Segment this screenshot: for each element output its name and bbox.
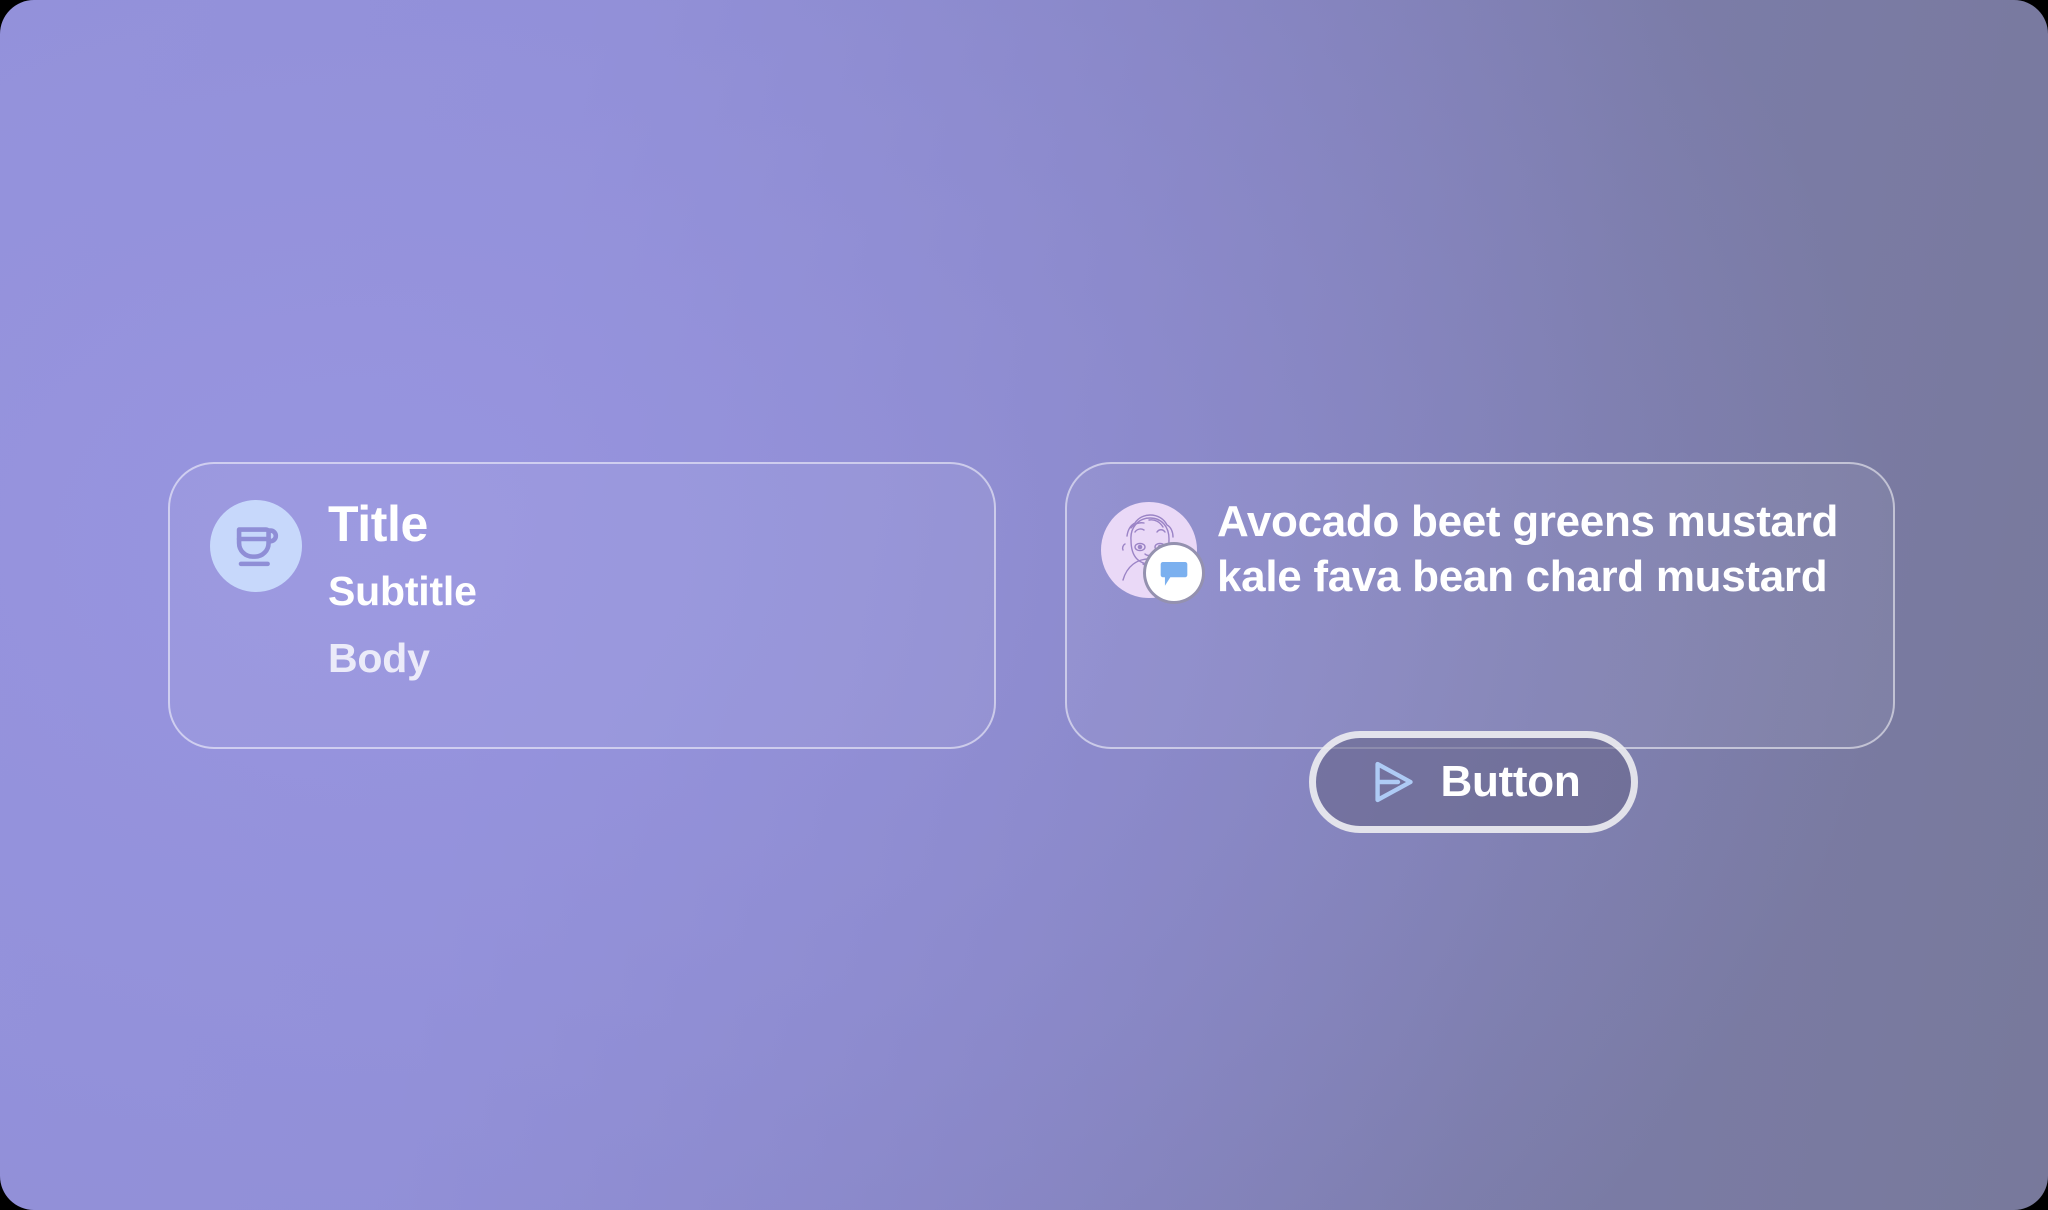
- card-body: Body: [328, 638, 477, 679]
- info-card[interactable]: Title Subtitle Body: [168, 462, 996, 749]
- send-button[interactable]: Button: [1309, 731, 1638, 833]
- avatar: [1101, 502, 1197, 598]
- card-title: Title: [328, 499, 477, 549]
- send-triangle-glyph: [1368, 757, 1418, 807]
- message-card[interactable]: Avocado beet greens mustard kale fava be…: [1065, 462, 1895, 749]
- send-button-label: Button: [1441, 760, 1581, 804]
- canvas-root: Title Subtitle Body: [0, 0, 2048, 1210]
- info-card-text-stack: Title Subtitle Body: [328, 498, 477, 679]
- coffee-cup-icon: [210, 500, 302, 592]
- coffee-cup-glyph: [227, 517, 285, 575]
- send-triangle-icon: [1367, 756, 1419, 808]
- info-card-content: Title Subtitle Body: [210, 498, 960, 679]
- chat-bubble-glyph: [1157, 556, 1191, 590]
- message-card-text: Avocado beet greens mustard kale fava be…: [1217, 492, 1873, 605]
- card-subtitle: Subtitle: [328, 571, 477, 612]
- chat-bubble-icon: [1143, 542, 1205, 604]
- message-card-content: Avocado beet greens mustard kale fava be…: [1101, 492, 1873, 605]
